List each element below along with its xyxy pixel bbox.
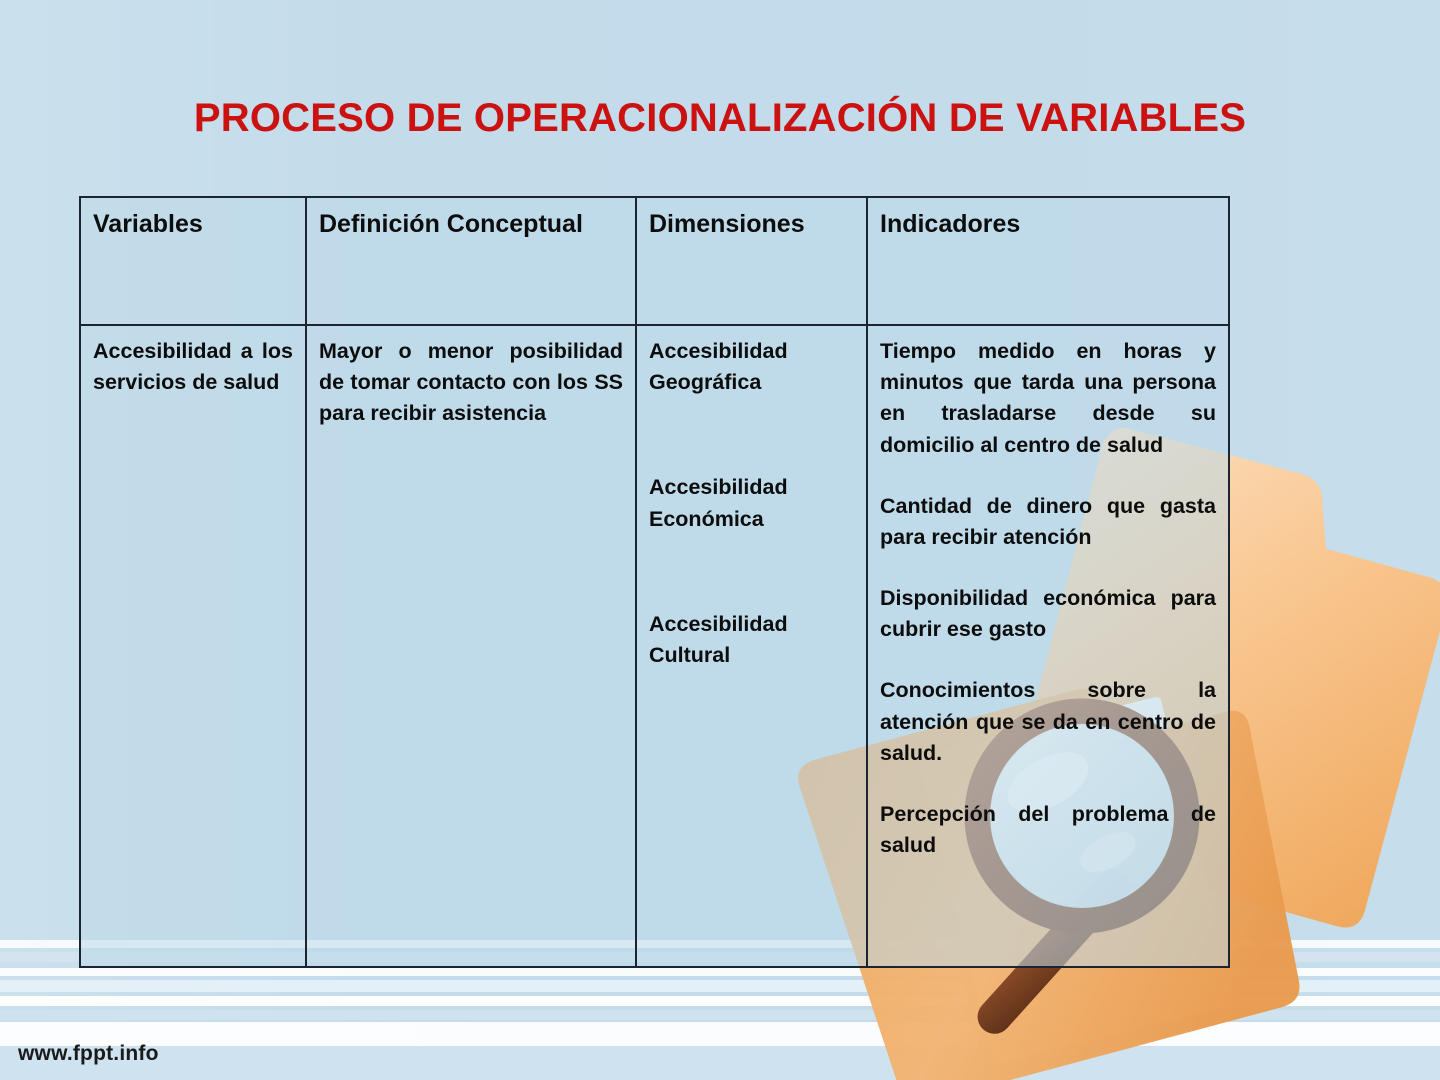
slide-canvas: PROCESO DE OPERACIONALIZACIÓN DE VARIABL… (0, 0, 1440, 1080)
cell-dimensiones: Accesibilidad Geográfica Accesibilidad E… (636, 325, 867, 967)
cell-definicion-conceptual: Mayor o menor posibilidad de tomar conta… (306, 325, 636, 967)
table-row: Accesibilidad a los servicios de salud M… (80, 325, 1229, 967)
stripe-band (0, 980, 1440, 992)
indicator-item: Cantidad de dinero que gasta para recibi… (880, 491, 1216, 553)
column-header-dimensiones: Dimensiones (636, 197, 867, 325)
operationalization-table: Variables Definición Conceptual Dimensio… (79, 196, 1230, 968)
operationalization-table-wrapper: Variables Definición Conceptual Dimensio… (79, 196, 1228, 968)
variable-text: Accesibilidad a los servicios de salud (93, 336, 293, 398)
table-header-row: Variables Definición Conceptual Dimensio… (80, 197, 1229, 325)
page-title: PROCESO DE OPERACIONALIZACIÓN DE VARIABL… (0, 96, 1440, 141)
indicator-item: Tiempo medido en horas y minutos que tar… (880, 336, 1216, 461)
dimension-item: Accesibilidad Económica (649, 472, 854, 534)
stripe-band (0, 1022, 1440, 1046)
dimension-item: Accesibilidad Geográfica (649, 336, 854, 398)
stripe-band (0, 1010, 1440, 1020)
column-header-variables: Variables (80, 197, 306, 325)
indicator-item: Percepción del problema de salud (880, 799, 1216, 861)
cell-indicadores: Tiempo medido en horas y minutos que tar… (867, 325, 1229, 967)
indicator-item: Conocimientos sobre la atención que se d… (880, 675, 1216, 769)
definicion-text: Mayor o menor posibilidad de tomar conta… (319, 336, 623, 430)
stripe-band (0, 1046, 1440, 1080)
watermark-fppt: www.fppt.info (18, 1042, 159, 1066)
cell-variables: Accesibilidad a los servicios de salud (80, 325, 306, 967)
stripe-band (0, 996, 1440, 1006)
column-header-definicion: Definición Conceptual (306, 197, 636, 325)
indicator-item: Disponibilidad económica para cubrir ese… (880, 583, 1216, 645)
dimension-item: Accesibilidad Cultural (649, 609, 854, 671)
column-header-indicadores: Indicadores (867, 197, 1229, 325)
stripe-band (0, 968, 1440, 976)
